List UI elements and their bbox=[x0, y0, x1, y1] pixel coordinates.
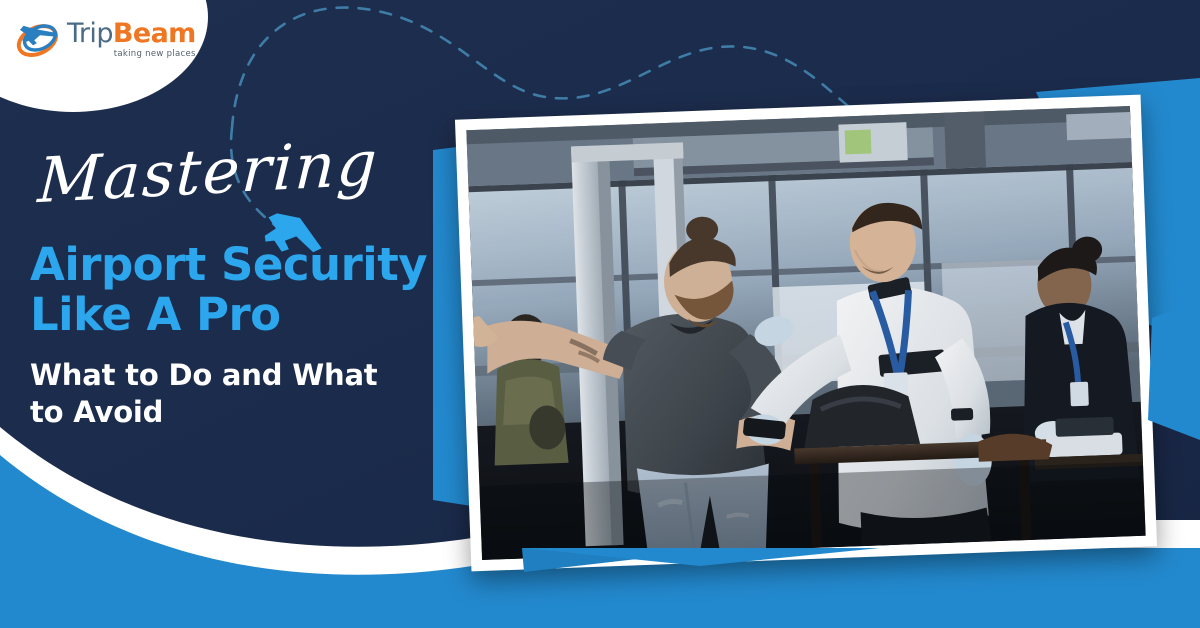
logo-word-beam: Beam bbox=[113, 18, 196, 49]
headline-block: Mastering Airport Security Like A Pro Wh… bbox=[30, 150, 460, 431]
main-headline-line-2: Like A Pro bbox=[30, 290, 460, 340]
logo-wordmark: TripBeam taking new places bbox=[67, 17, 196, 59]
photo-image bbox=[466, 106, 1145, 560]
main-headline: Airport Security Like A Pro bbox=[30, 240, 460, 339]
main-headline-line-1: Airport Security bbox=[30, 240, 460, 290]
blog-banner: TripBeam taking new places Mastering Air… bbox=[0, 0, 1200, 628]
airplane-swoosh-icon bbox=[14, 14, 66, 62]
script-headline: Mastering bbox=[36, 132, 380, 212]
sub-headline-line-1: What to Do and What bbox=[30, 357, 460, 394]
sub-headline: What to Do and What to Avoid bbox=[30, 357, 460, 431]
sub-headline-line-2: to Avoid bbox=[30, 394, 460, 431]
airport-security-photo bbox=[455, 95, 1157, 572]
tripbeam-logo[interactable]: TripBeam taking new places bbox=[14, 8, 194, 68]
logo-tagline: taking new places bbox=[67, 50, 196, 59]
logo-word-trip: Trip bbox=[67, 18, 113, 49]
